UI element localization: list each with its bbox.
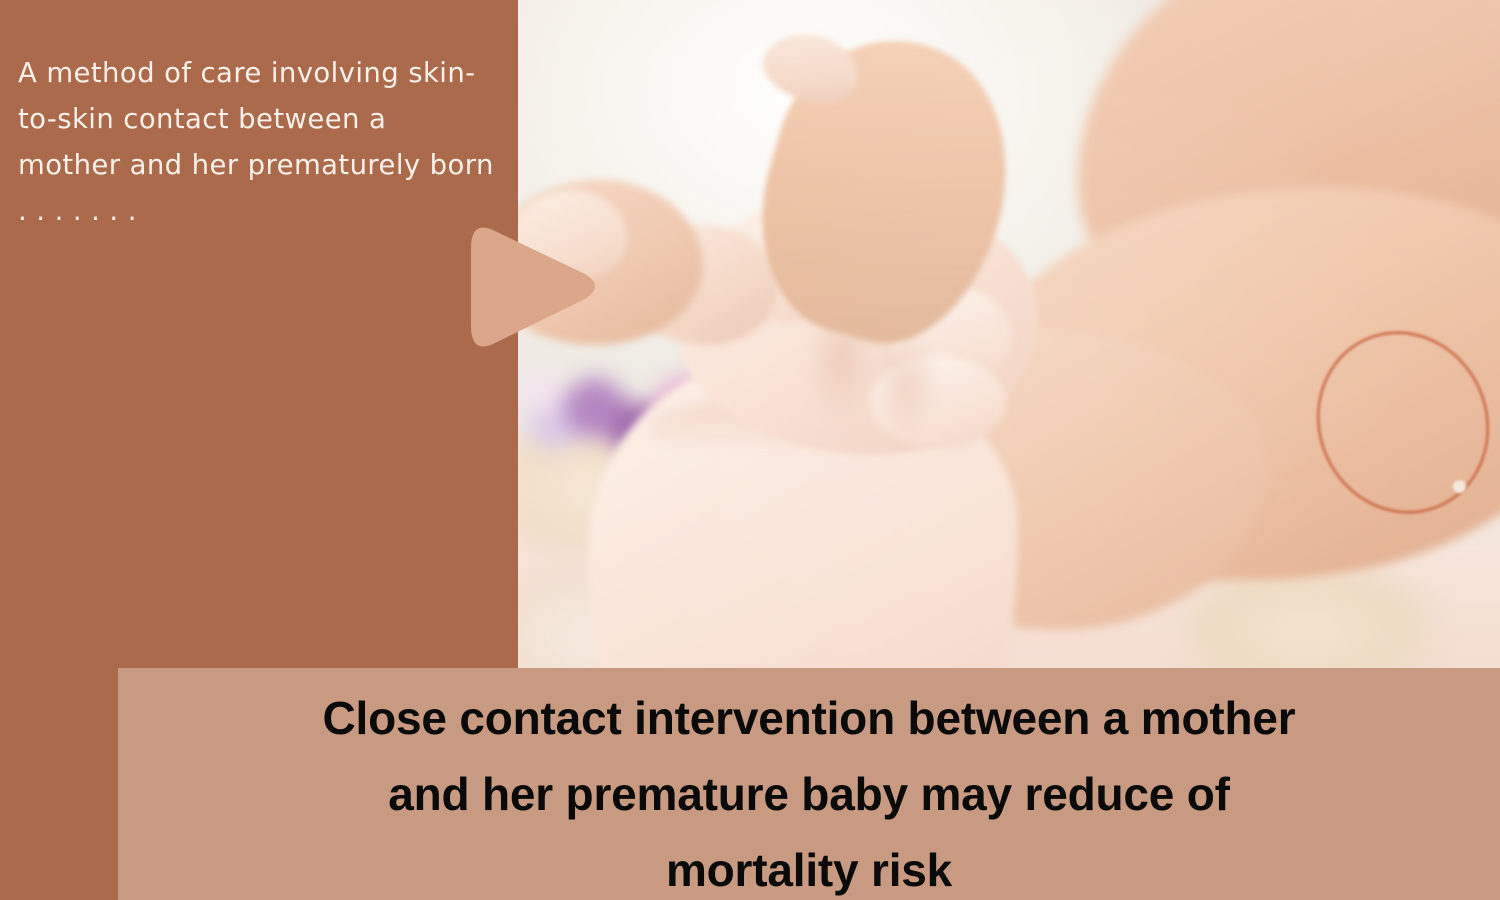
play-triangle-icon bbox=[465, 214, 597, 360]
caption-headline: Close contact intervention between a mot… bbox=[144, 680, 1474, 900]
play-button[interactable] bbox=[465, 214, 597, 360]
baby-finger-shadow bbox=[874, 330, 938, 440]
slide-canvas: A method of care involving skin-to-skin … bbox=[0, 0, 1500, 900]
bracelet-bead bbox=[1453, 480, 1466, 493]
intro-description-text: A method of care involving skin-to-skin … bbox=[18, 50, 496, 234]
caption-banner: Close contact intervention between a mot… bbox=[118, 668, 1500, 900]
